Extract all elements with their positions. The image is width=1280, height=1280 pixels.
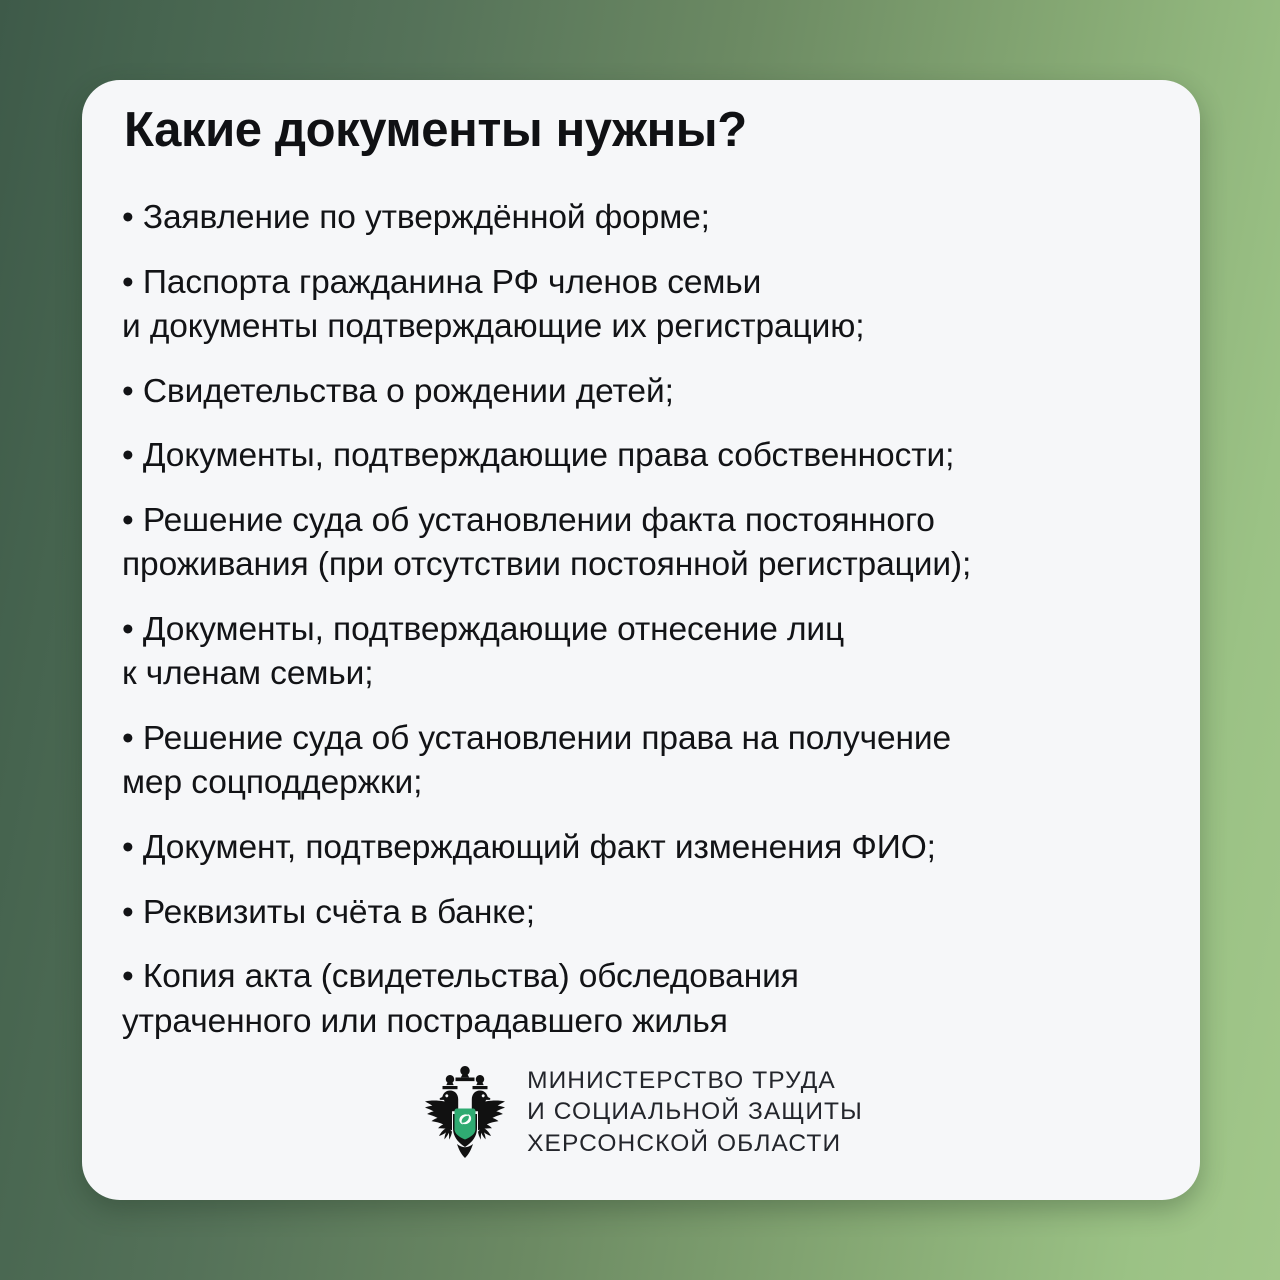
list-item: • Заявление по утверждённой форме;	[122, 196, 1174, 241]
list-item: • Документ, подтверждающий факт изменени…	[122, 826, 1174, 871]
poster-background: Какие документы нужны? • Заявление по ут…	[0, 0, 1280, 1280]
page-title: Какие документы нужны?	[124, 102, 1160, 159]
list-item: • Реквизиты счёта в банке;	[122, 891, 1174, 936]
list-item: • Решение суда об установлении права на …	[122, 717, 1174, 806]
ministry-footer: МИНИСТЕРСТВО ТРУДА И СОЦИАЛЬНОЙ ЗАЩИТЫ Х…	[82, 1062, 1200, 1162]
list-item: • Копия акта (свидетельства) обследовани…	[122, 955, 1174, 1044]
ministry-name: МИНИСТЕРСТВО ТРУДА И СОЦИАЛЬНОЙ ЗАЩИТЫ Х…	[527, 1065, 863, 1160]
info-card: Какие документы нужны? • Заявление по ут…	[82, 80, 1200, 1200]
list-item: • Решение суда об установлении факта пос…	[122, 499, 1174, 588]
ministry-line-1: МИНИСТЕРСТВО ТРУДА	[527, 1065, 863, 1097]
list-item: • Свидетельства о рождении детей;	[122, 370, 1174, 415]
required-documents-list: • Заявление по утверждённой форме; • Пас…	[122, 196, 1174, 1044]
ministry-line-2: И СОЦИАЛЬНОЙ ЗАЩИТЫ	[527, 1096, 863, 1128]
list-item: • Документы, подтверждающие права собств…	[122, 434, 1174, 479]
ministry-line-3: ХЕРСОНСКОЙ ОБЛАСТИ	[527, 1128, 863, 1160]
double-headed-eagle-emblem	[419, 1062, 511, 1162]
list-item: • Паспорта гражданина РФ членов семьи и …	[122, 261, 1174, 350]
list-item: • Документы, подтверждающие отнесение ли…	[122, 608, 1174, 697]
